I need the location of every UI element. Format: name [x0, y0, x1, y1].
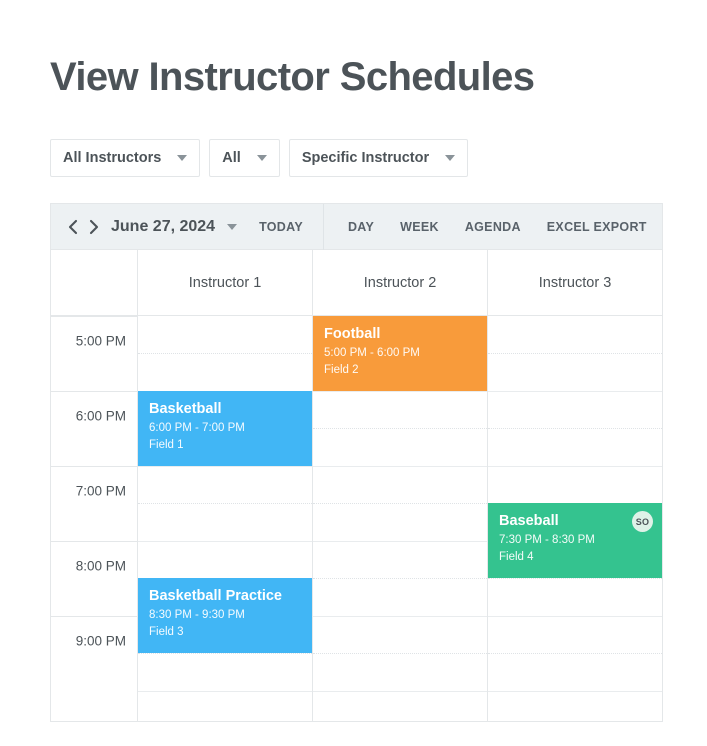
view-agenda-button[interactable]: AGENDA	[465, 220, 521, 234]
view-week-button[interactable]: WEEK	[400, 220, 439, 234]
gutter-hour-line	[51, 541, 137, 542]
event-basketball-practice[interactable]: Basketball Practice 8:30 PM - 9:30 PM Fi…	[138, 578, 312, 653]
hour-line	[488, 616, 662, 617]
all-filter-dropdown[interactable]: All	[209, 139, 280, 177]
event-title: Football	[324, 325, 476, 343]
hour-line	[313, 616, 487, 617]
half-hour-line	[138, 503, 312, 504]
half-hour-line	[313, 503, 487, 504]
event-baseball[interactable]: Baseball 7:30 PM - 8:30 PM Field 4 SO	[488, 503, 662, 578]
calendar-columns: Basketball 6:00 PM - 7:00 PM Field 1 Bas…	[138, 316, 662, 721]
next-period-button[interactable]	[88, 214, 99, 240]
header-time-gutter	[51, 250, 138, 315]
view-day-button[interactable]: DAY	[348, 220, 374, 234]
gutter-hour-line	[51, 316, 137, 317]
chevron-down-icon	[257, 155, 267, 161]
hour-line	[488, 391, 662, 392]
instructor-filter-label: All Instructors	[63, 150, 161, 166]
half-hour-line	[488, 428, 662, 429]
event-title: Basketball	[149, 400, 301, 418]
hour-line	[138, 541, 312, 542]
day-column-instructor-2[interactable]: Football 5:00 PM - 6:00 PM Field 2	[313, 316, 488, 721]
half-hour-line	[488, 353, 662, 354]
hour-line	[488, 691, 662, 692]
half-hour-line	[488, 653, 662, 654]
event-title: Basketball Practice	[149, 587, 301, 605]
gutter-hour-line	[51, 466, 137, 467]
event-title: Baseball	[499, 512, 651, 530]
prev-period-button[interactable]	[67, 214, 78, 240]
chevron-down-icon	[445, 155, 455, 161]
hour-line	[138, 466, 312, 467]
current-date-label[interactable]: June 27, 2024	[111, 218, 215, 236]
day-column-instructor-1[interactable]: Basketball 6:00 PM - 7:00 PM Field 1 Bas…	[138, 316, 313, 721]
view-switcher: DAY WEEK AGENDA EXCEL EXPORT	[348, 220, 647, 234]
time-gutter: 5:00 PM 6:00 PM 7:00 PM 8:00 PM 9:00 PM	[51, 316, 138, 721]
half-hour-line	[138, 353, 312, 354]
time-label-7pm: 7:00 PM	[76, 484, 126, 499]
hour-line	[488, 466, 662, 467]
excel-export-button[interactable]: EXCEL EXPORT	[547, 220, 647, 234]
chevron-left-icon	[67, 219, 78, 235]
instructor-filter-dropdown[interactable]: All Instructors	[50, 139, 200, 177]
event-basketball[interactable]: Basketball 6:00 PM - 7:00 PM Field 1	[138, 391, 312, 466]
event-location: Field 3	[149, 624, 301, 641]
page-title: View Instructor Schedules	[50, 55, 534, 99]
calendar: June 27, 2024 TODAY DAY WEEK AGENDA EXCE…	[50, 203, 663, 722]
event-location: Field 2	[324, 362, 476, 379]
calendar-header-row: Instructor 1 Instructor 2 Instructor 3	[51, 250, 662, 316]
instructor-schedules-page: View Instructor Schedules All Instructor…	[0, 0, 707, 746]
event-time: 6:00 PM - 7:00 PM	[149, 420, 301, 437]
column-header-instructor-1[interactable]: Instructor 1	[138, 250, 313, 315]
event-location: Field 4	[499, 549, 651, 566]
event-location: Field 1	[149, 437, 301, 454]
chevron-down-icon	[177, 155, 187, 161]
hour-line	[313, 541, 487, 542]
chevron-right-icon	[88, 219, 99, 235]
specific-instructor-label: Specific Instructor	[302, 150, 429, 166]
calendar-body: 5:00 PM 6:00 PM 7:00 PM 8:00 PM 9:00 PM	[51, 316, 662, 721]
hour-line	[138, 691, 312, 692]
event-time: 7:30 PM - 8:30 PM	[499, 532, 651, 549]
calendar-toolbar: June 27, 2024 TODAY DAY WEEK AGENDA EXCE…	[51, 204, 662, 250]
event-owner-avatar[interactable]: SO	[632, 511, 653, 532]
half-hour-line	[313, 578, 487, 579]
half-hour-line	[488, 578, 662, 579]
half-hour-line	[313, 428, 487, 429]
event-football[interactable]: Football 5:00 PM - 6:00 PM Field 2	[313, 316, 487, 391]
gutter-hour-line	[51, 391, 137, 392]
time-label-5pm: 5:00 PM	[76, 334, 126, 349]
event-time: 8:30 PM - 9:30 PM	[149, 607, 301, 624]
specific-instructor-dropdown[interactable]: Specific Instructor	[289, 139, 468, 177]
hour-line	[313, 691, 487, 692]
toolbar-divider	[323, 204, 324, 250]
chevron-down-icon[interactable]	[227, 224, 237, 230]
today-button[interactable]: TODAY	[259, 220, 303, 234]
time-label-8pm: 8:00 PM	[76, 559, 126, 574]
hour-line	[313, 466, 487, 467]
day-column-instructor-3[interactable]: Baseball 7:30 PM - 8:30 PM Field 4 SO	[488, 316, 662, 721]
column-header-instructor-2[interactable]: Instructor 2	[313, 250, 488, 315]
time-label-9pm: 9:00 PM	[76, 634, 126, 649]
all-filter-label: All	[222, 150, 241, 166]
column-header-instructor-3[interactable]: Instructor 3	[488, 250, 662, 315]
event-time: 5:00 PM - 6:00 PM	[324, 345, 476, 362]
time-label-6pm: 6:00 PM	[76, 409, 126, 424]
gutter-hour-line	[51, 616, 137, 617]
half-hour-line	[138, 653, 312, 654]
half-hour-line	[313, 653, 487, 654]
hour-line	[313, 391, 487, 392]
filter-bar: All Instructors All Specific Instructor	[50, 139, 468, 177]
